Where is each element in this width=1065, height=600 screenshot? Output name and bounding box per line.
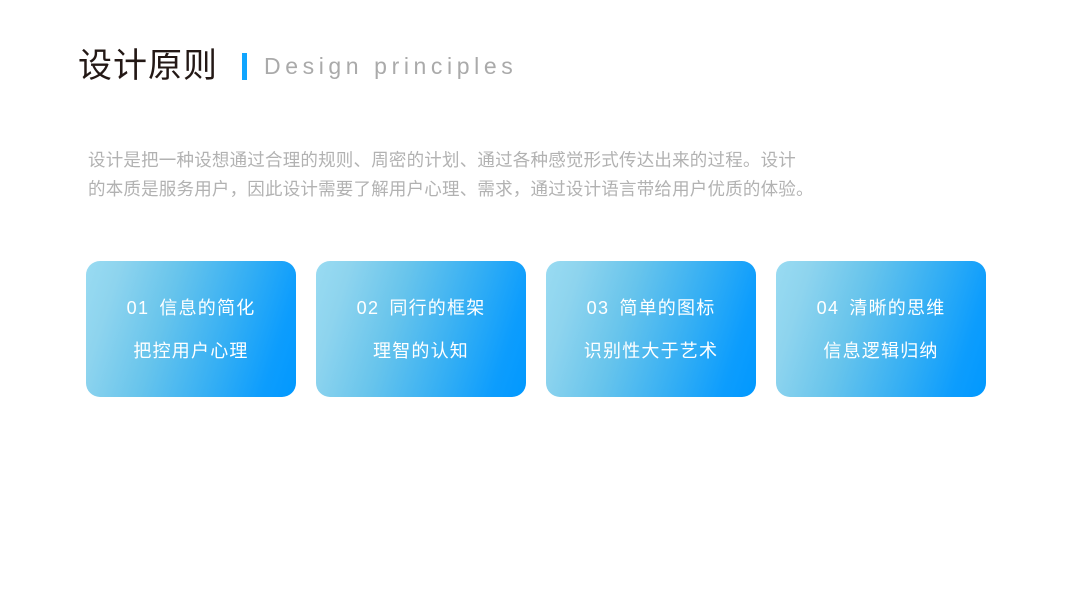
card-heading: 清晰的思维 (849, 298, 945, 318)
page-title: 设计原则 (78, 44, 218, 88)
intro-line-1: 设计是把一种设想通过合理的规则、周密的计划、通过各种感觉形式传达出来的过程。设计 (88, 146, 994, 175)
title-accent-bar (242, 53, 247, 80)
slide-canvas: 设计原则 Design principles 设计是把一种设想通过合理的规则、周… (0, 0, 1065, 600)
principle-card-list: 01信息的简化 把控用户心理 02同行的框架 理智的认知 03简单的图标 识别性… (86, 261, 986, 397)
card-heading-row: 03简单的图标 (587, 295, 716, 321)
card-number: 04 (817, 298, 840, 318)
card-number: 02 (357, 298, 380, 318)
principle-card[interactable]: 01信息的简化 把控用户心理 (86, 261, 296, 397)
page-subtitle: Design principles (264, 51, 517, 81)
card-subheading: 把控用户心理 (133, 338, 248, 364)
intro-paragraph: 设计是把一种设想通过合理的规则、周密的计划、通过各种感觉形式传达出来的过程。设计… (88, 146, 994, 204)
principle-card[interactable]: 03简单的图标 识别性大于艺术 (546, 261, 756, 397)
card-subheading: 理智的认知 (373, 338, 469, 364)
card-heading-row: 02同行的框架 (357, 295, 486, 321)
card-number: 01 (127, 298, 150, 318)
principle-card[interactable]: 02同行的框架 理智的认知 (316, 261, 526, 397)
card-subheading: 信息逻辑归纳 (823, 338, 938, 364)
card-heading-row: 01信息的简化 (127, 295, 256, 321)
card-heading: 简单的图标 (619, 298, 715, 318)
card-subheading: 识别性大于艺术 (584, 338, 718, 364)
intro-line-2: 的本质是服务用户，因此设计需要了解用户心理、需求，通过设计语言带给用户优质的体验… (88, 175, 994, 204)
card-heading: 同行的框架 (389, 298, 485, 318)
principle-card[interactable]: 04清晰的思维 信息逻辑归纳 (776, 261, 986, 397)
card-number: 03 (587, 298, 610, 318)
card-heading: 信息的简化 (159, 298, 255, 318)
card-heading-row: 04清晰的思维 (817, 295, 946, 321)
slide-header: 设计原则 Design principles (78, 42, 517, 90)
